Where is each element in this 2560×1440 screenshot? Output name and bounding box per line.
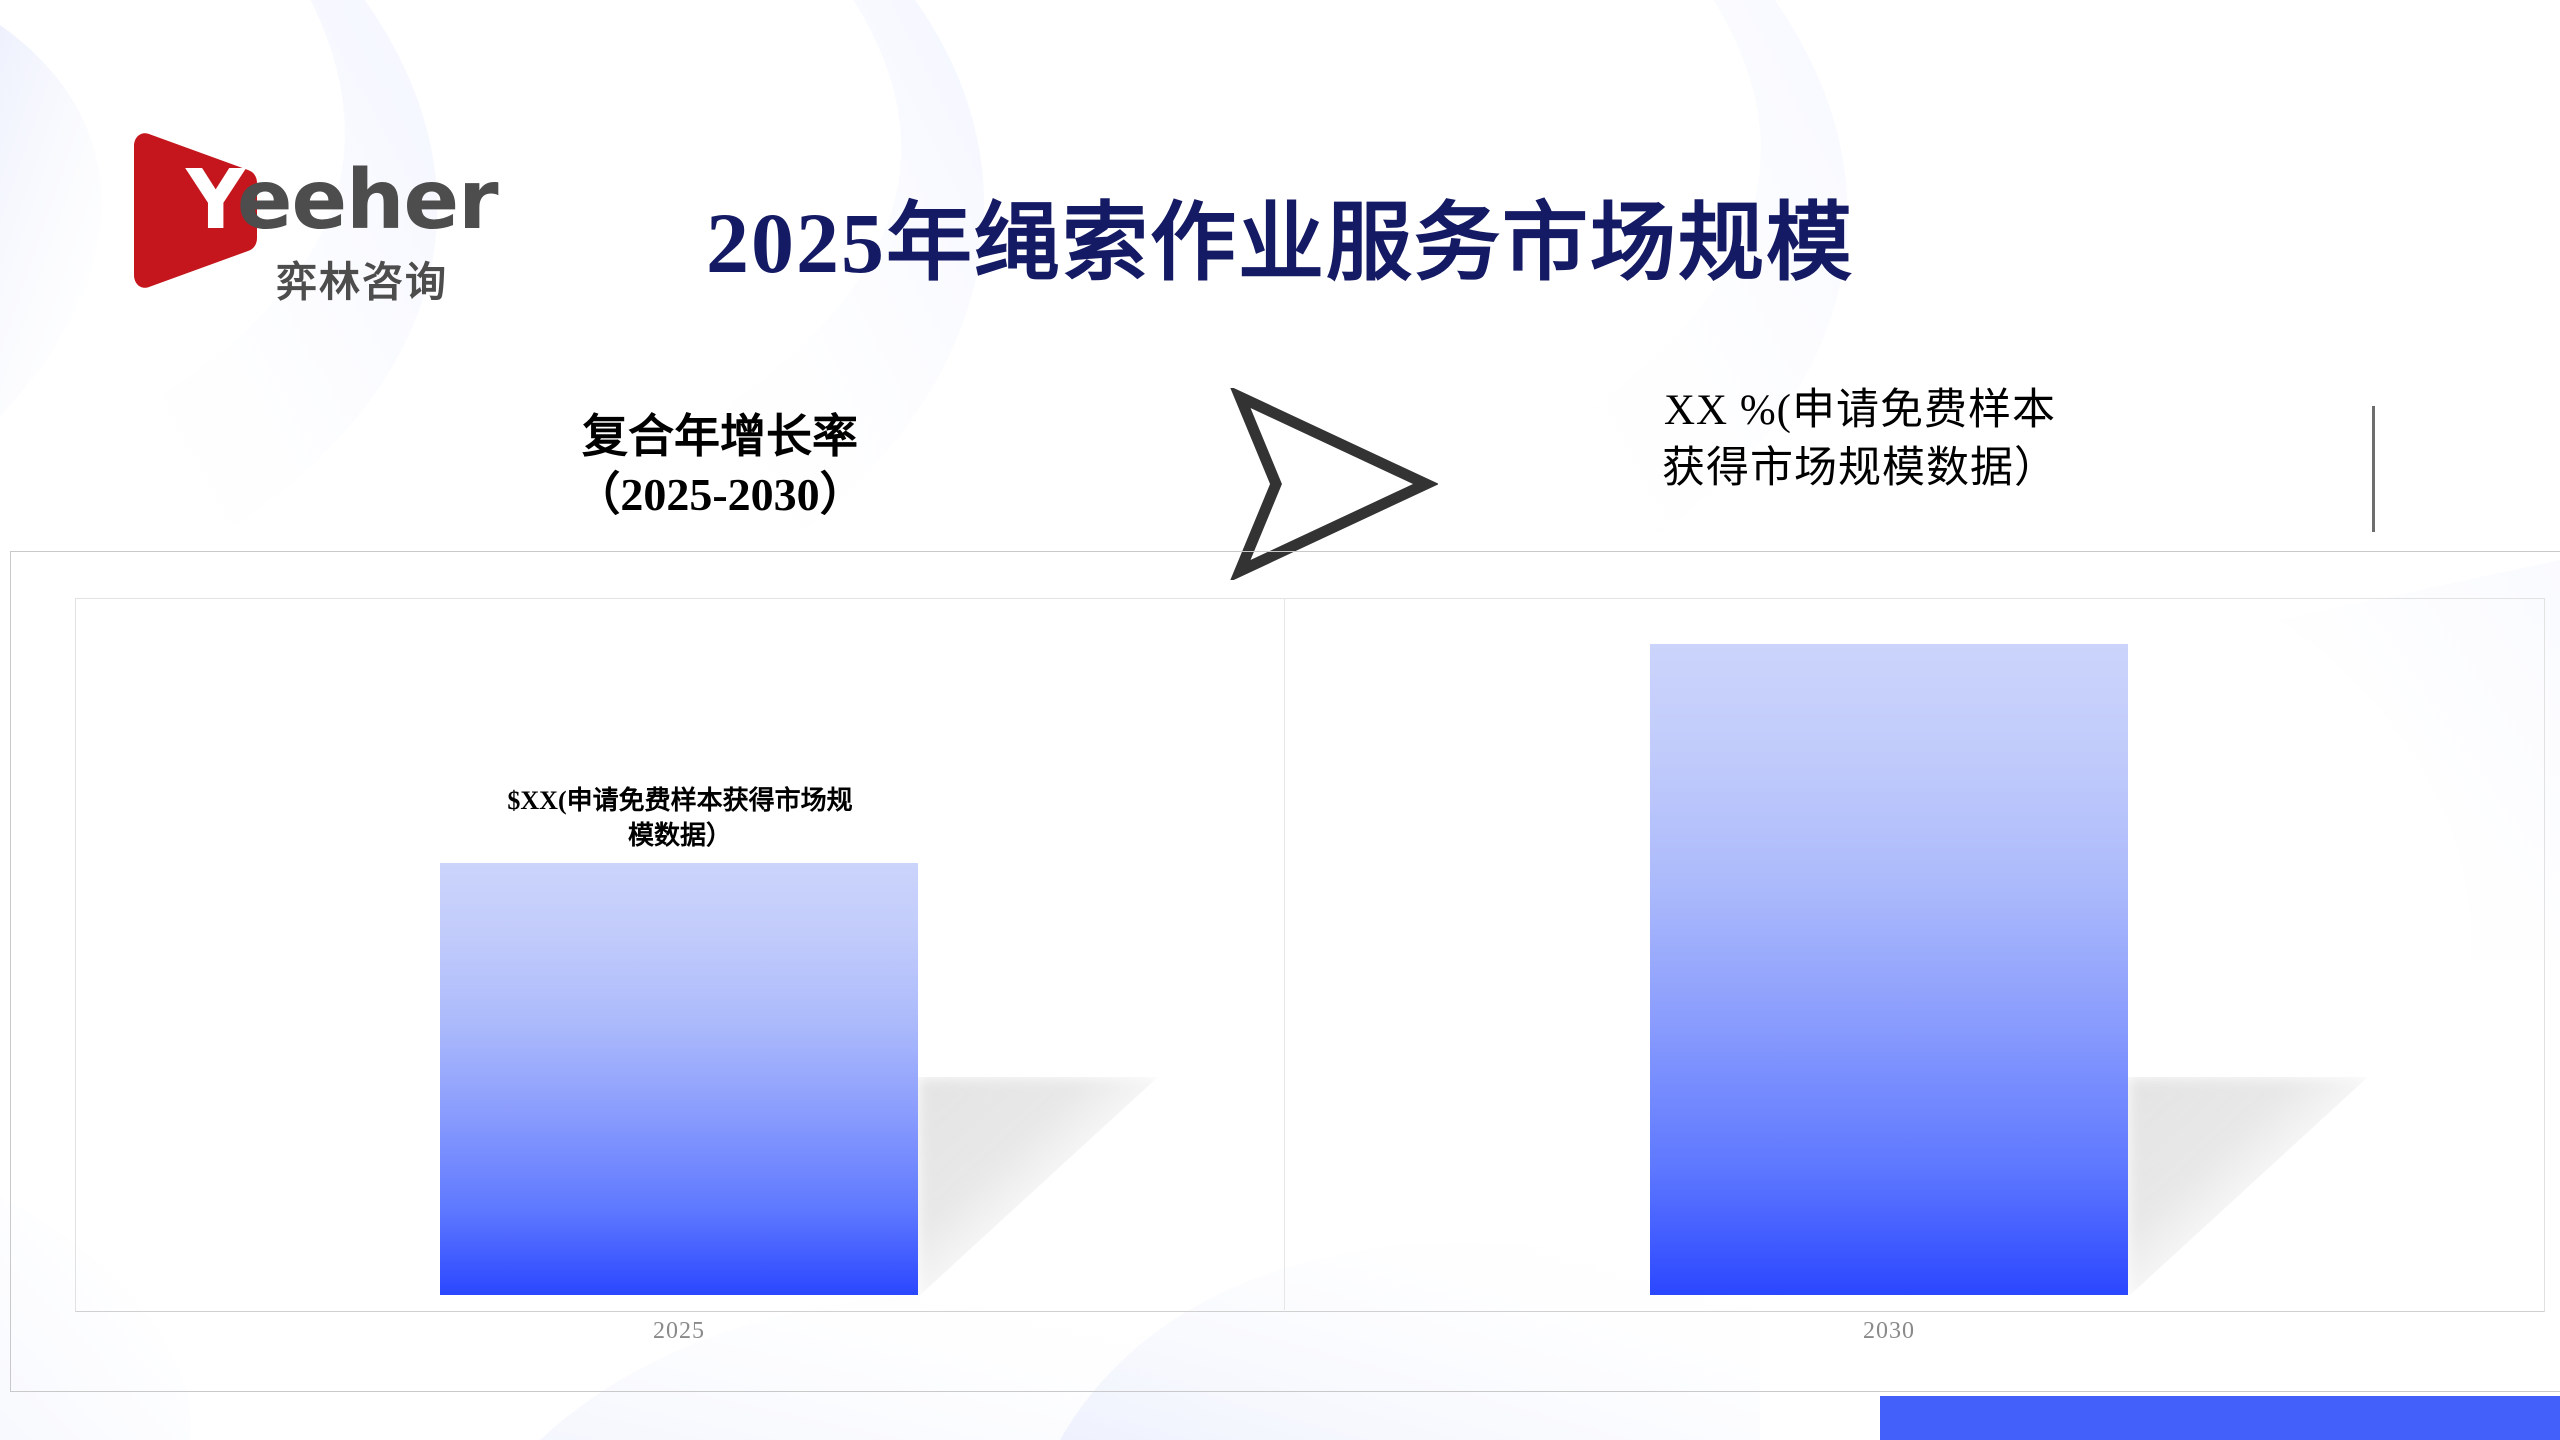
bar-2025-data-label-line1: $XX(申请免费样本获得市场规: [430, 784, 930, 819]
bar-2025-data-label-line2: 模数据）: [430, 819, 930, 854]
chart-category-divider: [1284, 598, 1285, 1310]
page-title: 2025年绳索作业服务市场规模: [0, 172, 2560, 297]
cagr-label: 复合年增长率 （2025-2030）: [460, 408, 980, 524]
bar-2030[interactable]: [1650, 644, 2128, 1295]
x-axis-tick-2030: 2030: [1739, 1318, 2039, 1345]
x-axis-tick-2025: 2025: [529, 1318, 829, 1345]
footer-accent-bar: [1880, 1396, 2560, 1440]
bar-2025[interactable]: [440, 863, 918, 1295]
slide-canvas: Yeeher 弈林咨询 2025年绳索作业服务市场规模 复合年增长率 （2025…: [0, 0, 2560, 1440]
cagr-value-line2: 获得市场规模数据）: [1600, 440, 2120, 498]
vertical-divider: [2372, 406, 2375, 532]
cagr-label-line2: （2025-2030）: [460, 466, 980, 524]
cagr-label-line1: 复合年增长率: [460, 408, 980, 466]
cagr-value-line1: XX %(申请免费样本: [1600, 382, 2120, 440]
bar-2025-data-label: $XX(申请免费样本获得市场规 模数据）: [430, 784, 930, 853]
cagr-value: XX %(申请免费样本 获得市场规模数据）: [1600, 382, 2120, 497]
